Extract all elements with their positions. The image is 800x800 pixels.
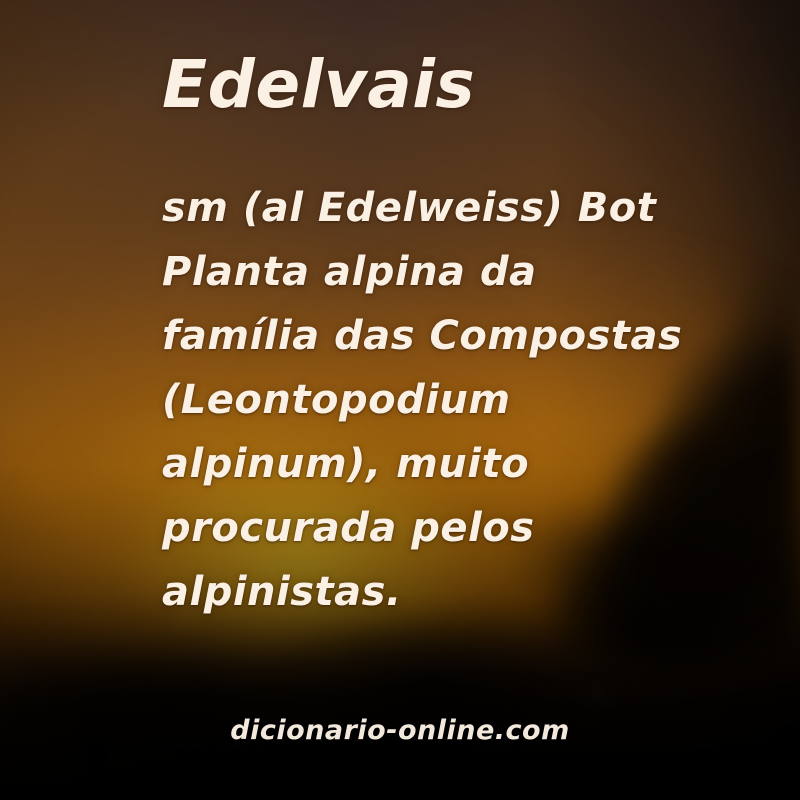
definition-line: Planta alpina da — [162, 240, 662, 304]
card-content: Edelvais sm (al Edelweiss) Bot Planta al… — [0, 0, 800, 800]
definition-line: alpinistas. — [162, 560, 662, 624]
definition-line: família das Compostas — [162, 304, 662, 368]
page-title: Edelvais — [162, 52, 475, 118]
definition-text: sm (al Edelweiss) Bot Planta alpina da f… — [162, 176, 662, 624]
dictionary-definition-card: Edelvais sm (al Edelweiss) Bot Planta al… — [0, 0, 800, 800]
site-watermark: dicionario-online.com — [0, 712, 800, 750]
definition-line: procurada pelos — [162, 496, 662, 560]
definition-line: sm (al Edelweiss) Bot — [162, 176, 662, 240]
definition-line: (Leontopodium — [162, 368, 662, 432]
definition-line: alpinum), muito — [162, 432, 662, 496]
